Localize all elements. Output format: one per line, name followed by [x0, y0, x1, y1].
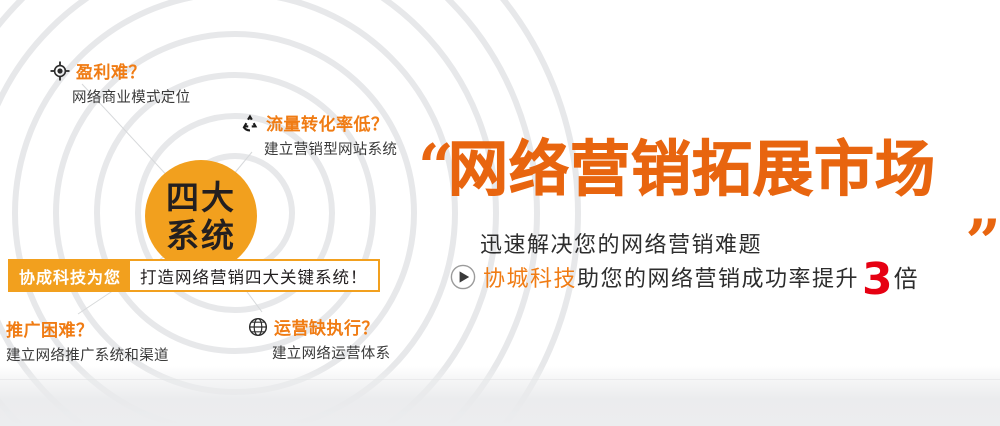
recycle-icon: [240, 113, 260, 133]
center-disc-four-systems: 四大 系统: [145, 160, 257, 272]
tagline-bar: 协成科技为您 打造网络营销四大关键系统！: [8, 259, 380, 292]
callout-operation: 运营缺执行？ 建立网络运营体系: [248, 314, 390, 363]
multiplier-number: 3: [862, 262, 893, 297]
callout-profit-head: 盈利难？: [50, 58, 190, 83]
subtitle-brand: 协城科技: [483, 261, 577, 293]
callout-conversion: 流量转化率低？ 建立营销型网站系统: [240, 110, 397, 159]
multiplier-unit: 倍: [894, 259, 919, 294]
callout-promotion-head: 推广困难？: [6, 316, 169, 341]
callout-conversion-title: 流量转化率低？: [266, 110, 389, 135]
crosshair-target-icon: [50, 61, 70, 81]
tagline-brand: 协成科技为您: [10, 261, 130, 290]
callout-conversion-sub: 建立营销型网站系统: [264, 138, 397, 159]
globe-icon: [248, 317, 268, 337]
center-disc-line1: 四大: [166, 181, 236, 214]
bottom-gradient-band: [0, 366, 1000, 426]
bottom-hairline: [0, 379, 1000, 380]
callout-promotion: 推广困难？ 建立网络推广系统和渠道: [6, 316, 169, 365]
callout-profit-sub: 网络商业模式定位: [72, 86, 190, 107]
callout-operation-title: 运营缺执行？: [274, 314, 379, 339]
callout-promotion-title: 推广困难？: [6, 316, 94, 341]
play-circle-icon: [450, 264, 476, 290]
tagline-message: 打造网络营销四大关键系统！: [130, 261, 378, 290]
callout-profit: 盈利难？ 网络商业模式定位: [50, 58, 190, 107]
subtitle-line-2-rest: 助您的网络营销成功率提升: [577, 261, 859, 293]
message-block: “ „ 网络营销拓展市场 迅速解决您的网络营销难题 协城科技 助您的网络营销成功…: [418, 132, 1000, 307]
quote-close-mark: „: [966, 176, 1000, 238]
headline: 网络营销拓展市场: [448, 140, 936, 200]
promotional-banner: 四大 系统 盈利难？ 网络商业模式定位 流量转化率低？: [0, 0, 1000, 426]
callout-conversion-head: 流量转化率低？: [240, 110, 397, 135]
callout-operation-sub: 建立网络运营体系: [272, 342, 390, 363]
center-disc-line2: 系统: [166, 219, 236, 252]
callout-profit-title: 盈利难？: [76, 58, 146, 83]
callout-operation-head: 运营缺执行？: [248, 314, 390, 339]
subtitle-line-2: 协城科技 助您的网络营销成功率提升 3 倍: [450, 259, 919, 294]
callout-promotion-sub: 建立网络推广系统和渠道: [6, 344, 169, 365]
subtitle-line-1: 迅速解决您的网络营销难题: [480, 227, 762, 259]
